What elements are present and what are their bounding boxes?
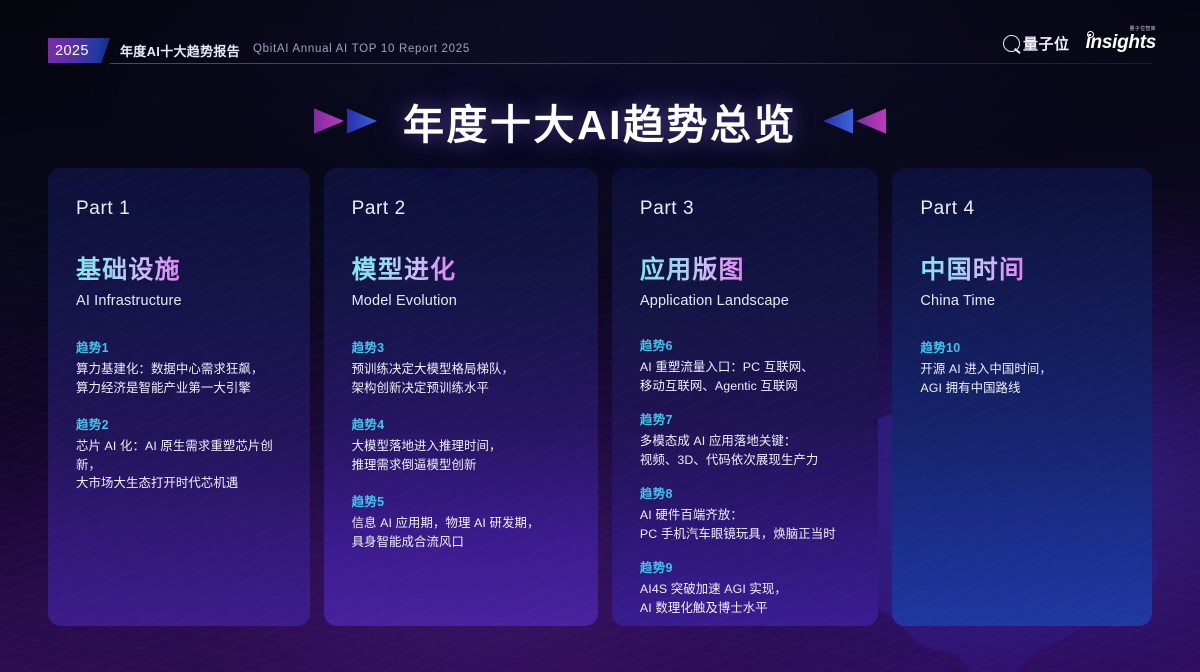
insights-logo: 量子位智库 insights	[1086, 32, 1156, 54]
trend-number: 趋势5	[352, 491, 572, 510]
trend-text-line-1: 信息 AI 应用期，物理 AI 研发期，	[352, 514, 572, 533]
trend-text-line-1: 芯片 AI 化：AI 原生需求重塑芯片创新，	[76, 437, 284, 474]
trend-number: 趋势8	[640, 483, 852, 502]
trend-item: 趋势2 芯片 AI 化：AI 原生需求重塑芯片创新， 大市场大生态打开时代芯机遇	[76, 414, 284, 493]
trend-text-line-2: AGI 拥有中国路线	[920, 379, 1126, 398]
page-title: 年度十大AI趋势总览	[403, 91, 797, 151]
trend-number: 趋势4	[352, 414, 572, 433]
trend-number: 趋势2	[76, 414, 284, 433]
arrow-right-icon	[347, 106, 377, 136]
trend-text-line-1: AI 硬件百端齐放：	[640, 506, 852, 525]
trend-list: 趋势6 AI 重塑流量入口：PC 互联网、 移动互联网、Agentic 互联网 …	[640, 335, 852, 617]
trend-number: 趋势3	[352, 337, 572, 356]
year-badge-label: 2025	[55, 43, 89, 59]
trend-text-line-1: 大模型落地进入推理时间，	[352, 437, 572, 456]
qbit-q-icon	[1003, 35, 1020, 52]
trend-text-line-2: 具身智能成合流风口	[352, 533, 572, 552]
part-title-cn: 中国时间	[920, 250, 1025, 286]
trend-item: 趋势9 AI4S 突破加速 AGI 实现， AI 数理化触及博士水平	[640, 557, 852, 617]
trend-item: 趋势5 信息 AI 应用期，物理 AI 研发期， 具身智能成合流风口	[352, 491, 572, 551]
part-title-en: Application Landscape	[640, 293, 852, 309]
insights-logo-sublabel: 量子位智库	[1129, 25, 1156, 32]
trend-number: 趋势9	[640, 557, 852, 576]
part-title-en: Model Evolution	[352, 293, 572, 309]
trend-text-line-2: 算力经济是智能产业第一大引擎	[76, 379, 284, 398]
insights-logo-label: insights	[1086, 32, 1156, 53]
trend-text-line-2: 视频、3D、代码依次展现生产力	[640, 451, 852, 470]
part-title-cn: 模型进化	[352, 250, 457, 286]
trend-text-line-2: AI 数理化触及博士水平	[640, 599, 852, 618]
part-card-grid: Part 1 基础设施 AI Infrastructure 趋势1 算力基建化：…	[48, 168, 1152, 626]
logo-group: 量子位 量子位智库 insights	[1003, 32, 1156, 54]
trend-number: 趋势6	[640, 335, 852, 354]
header-divider	[110, 63, 1152, 64]
year-badge: 2025	[48, 38, 110, 63]
qbitai-logo-label: 量子位	[1023, 33, 1070, 54]
arrow-left-icon	[856, 106, 886, 136]
report-title-en: QbitAI Annual AI TOP 10 Report 2025	[253, 43, 470, 55]
trend-text-line-1: 预训练决定大模型格局梯队，	[352, 360, 572, 379]
trend-text-line-1: AI 重塑流量入口：PC 互联网、	[640, 358, 852, 377]
trend-item: 趋势8 AI 硬件百端齐放： PC 手机汽车眼镜玩具，焕脑正当时	[640, 483, 852, 543]
trend-item: 趋势3 预训练决定大模型格局梯队， 架构创新决定预训练水平	[352, 337, 572, 397]
part-label: Part 4	[920, 198, 1126, 220]
trend-text-line-2: 移动互联网、Agentic 互联网	[640, 377, 852, 396]
arrow-decoration-left	[314, 106, 377, 136]
part-label: Part 1	[76, 198, 284, 220]
part-card-1[interactable]: Part 1 基础设施 AI Infrastructure 趋势1 算力基建化：…	[48, 168, 310, 626]
trend-text-line-1: 多模态成 AI 应用落地关键：	[640, 432, 852, 451]
part-title-cn: 基础设施	[76, 250, 181, 286]
part-card-2[interactable]: Part 2 模型进化 Model Evolution 趋势3 预训练决定大模型…	[324, 168, 598, 626]
trend-list: 趋势1 算力基建化：数据中心需求狂飙， 算力经济是智能产业第一大引擎 趋势2 芯…	[76, 337, 284, 493]
trend-text-line-1: 算力基建化：数据中心需求狂飙，	[76, 360, 284, 379]
trend-list: 趋势3 预训练决定大模型格局梯队， 架构创新决定预训练水平 趋势4 大模型落地进…	[352, 337, 572, 551]
part-card-3[interactable]: Part 3 应用版图 Application Landscape 趋势6 AI…	[612, 168, 878, 626]
trend-number: 趋势7	[640, 409, 852, 428]
trend-text-line-2: 推理需求倒逼模型创新	[352, 456, 572, 475]
slide-header: 2025 年度AI十大趋势报告 QbitAI Annual AI TOP 10 …	[0, 0, 1200, 74]
trend-text-line-1: AI4S 突破加速 AGI 实现，	[640, 580, 852, 599]
title-row: 年度十大AI趋势总览	[0, 90, 1200, 152]
trend-number: 趋势10	[920, 337, 1126, 356]
part-label: Part 3	[640, 198, 852, 220]
part-label: Part 2	[352, 198, 572, 220]
arrow-right-icon	[314, 106, 344, 136]
insights-dot-icon	[1087, 31, 1094, 38]
trend-item: 趋势7 多模态成 AI 应用落地关键： 视频、3D、代码依次展现生产力	[640, 409, 852, 469]
trend-item: 趋势10 开源 AI 进入中国时间， AGI 拥有中国路线	[920, 337, 1126, 397]
qbitai-logo: 量子位	[1003, 33, 1070, 54]
trend-item: 趋势6 AI 重塑流量入口：PC 互联网、 移动互联网、Agentic 互联网	[640, 335, 852, 395]
trend-text-line-2: PC 手机汽车眼镜玩具，焕脑正当时	[640, 525, 852, 544]
trend-item: 趋势4 大模型落地进入推理时间， 推理需求倒逼模型创新	[352, 414, 572, 474]
slide-canvas: 2025 年度AI十大趋势报告 QbitAI Annual AI TOP 10 …	[0, 0, 1200, 672]
trend-number: 趋势1	[76, 337, 284, 356]
trend-text-line-2: 大市场大生态打开时代芯机遇	[76, 474, 284, 493]
trend-item: 趋势1 算力基建化：数据中心需求狂飙， 算力经济是智能产业第一大引擎	[76, 337, 284, 397]
report-title-cn: 年度AI十大趋势报告	[120, 41, 240, 60]
part-card-4[interactable]: Part 4 中国时间 China Time 趋势10 开源 AI 进入中国时间…	[892, 168, 1152, 626]
part-title-en: AI Infrastructure	[76, 293, 284, 309]
trend-list: 趋势10 开源 AI 进入中国时间， AGI 拥有中国路线	[920, 337, 1126, 397]
trend-text-line-2: 架构创新决定预训练水平	[352, 379, 572, 398]
trend-text-line-1: 开源 AI 进入中国时间，	[920, 360, 1126, 379]
arrow-decoration-right	[823, 106, 886, 136]
part-title-en: China Time	[920, 293, 1126, 309]
part-title-cn: 应用版图	[640, 250, 745, 286]
arrow-left-icon	[823, 106, 853, 136]
